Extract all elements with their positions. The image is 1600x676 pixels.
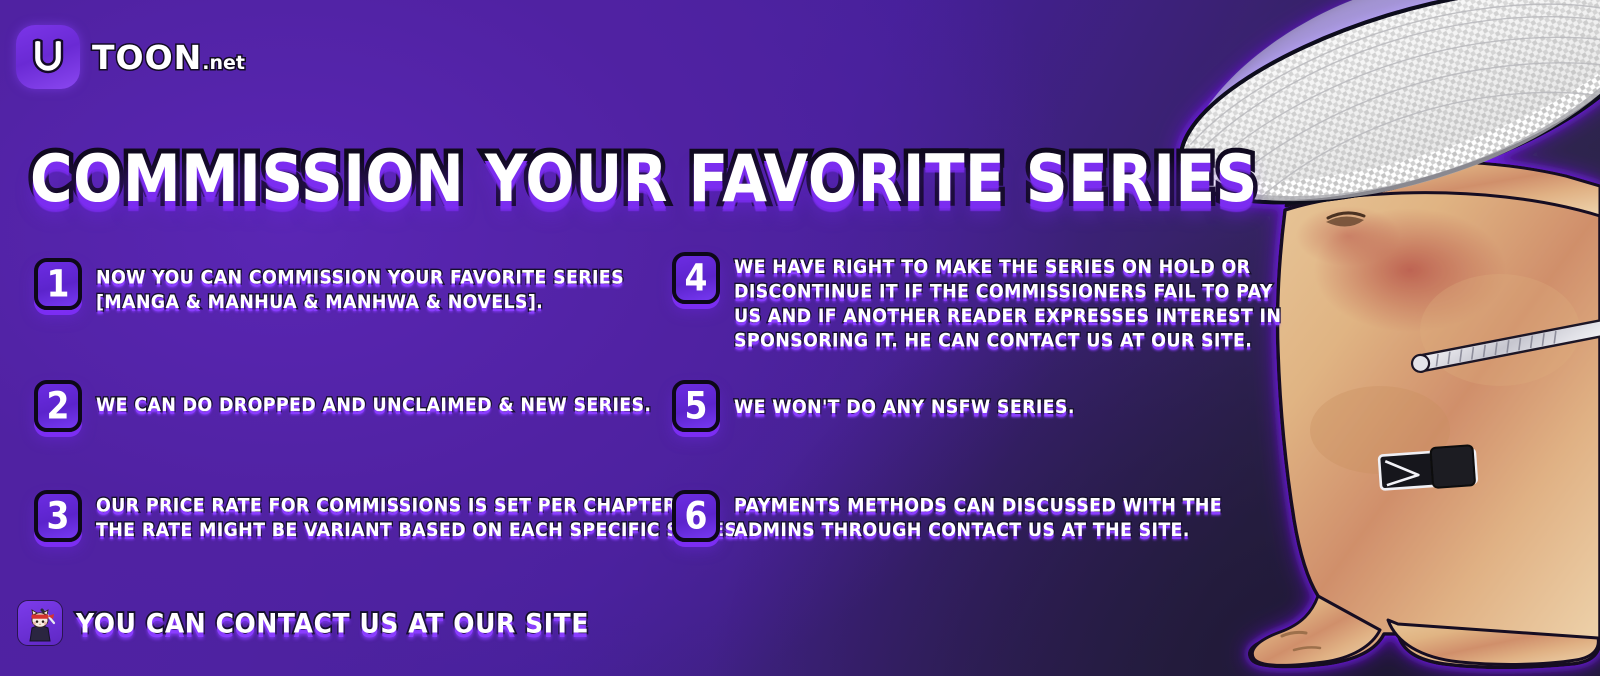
list-item: 4 WE HAVE RIGHT TO MAKE THE SERIES ON HO… bbox=[672, 252, 1281, 348]
number-badge: 1 bbox=[34, 258, 82, 310]
page-title: COMMISSION YOUR FAVORITE SERIES bbox=[30, 146, 1258, 211]
contact-footer-text: YOU CAN CONTACT US AT OUR SITE bbox=[76, 607, 589, 638]
list-item-text: WE CAN DO DROPPED AND UNCLAIMED & NEW SE… bbox=[96, 376, 651, 418]
logo-wordmark: TOON.net bbox=[92, 38, 245, 77]
text-line: OUR PRICE RATE FOR COMMISSIONS IS SET PE… bbox=[96, 494, 744, 518]
crescent-u-logo-icon bbox=[16, 25, 80, 89]
list-item: 5 WE WON'T DO ANY NSFW SERIES. bbox=[672, 376, 1075, 432]
badge-number: 2 bbox=[47, 386, 70, 424]
text-line: ADMINS THROUGH CONTACT US AT THE SITE. bbox=[734, 519, 1222, 543]
commission-banner: TOON.net COMMISSION YOUR FAVORITE SERIES… bbox=[0, 0, 1600, 676]
badge-number: 6 bbox=[685, 496, 708, 534]
badge-number: 1 bbox=[47, 264, 70, 302]
text-line: [MANGA & MANHUA & MANHWA & NOVELS]. bbox=[96, 291, 624, 315]
number-badge: 2 bbox=[34, 380, 82, 432]
text-line: WE WON'T DO ANY NSFW SERIES. bbox=[734, 396, 1075, 420]
number-badge: 4 bbox=[672, 252, 720, 304]
number-badge: 6 bbox=[672, 490, 720, 542]
list-item-text: WE WON'T DO ANY NSFW SERIES. bbox=[734, 376, 1075, 420]
text-line: NOW YOU CAN COMMISSION YOUR FAVORITE SER… bbox=[96, 266, 624, 290]
badge-number: 5 bbox=[685, 386, 708, 424]
list-item: 3 OUR PRICE RATE FOR COMMISSIONS IS SET … bbox=[34, 486, 744, 542]
list-item-text: WE HAVE RIGHT TO MAKE THE SERIES ON HOLD… bbox=[734, 252, 1281, 353]
list-item-text: PAYMENTS METHODS CAN DISCUSSED WITH THE … bbox=[734, 486, 1222, 543]
logo-tld: .net bbox=[202, 52, 245, 74]
list-item: 2 WE CAN DO DROPPED AND UNCLAIMED & NEW … bbox=[34, 376, 651, 432]
text-line: WE CAN DO DROPPED AND UNCLAIMED & NEW SE… bbox=[96, 394, 651, 418]
list-item-text: OUR PRICE RATE FOR COMMISSIONS IS SET PE… bbox=[96, 486, 744, 543]
badge-number: 3 bbox=[47, 496, 70, 534]
number-badge: 3 bbox=[34, 490, 82, 542]
contact-footer[interactable]: YOU CAN CONTACT US AT OUR SITE bbox=[17, 600, 589, 646]
ninja-cat-avatar-icon bbox=[17, 600, 63, 646]
list-item: 6 PAYMENTS METHODS CAN DISCUSSED WITH TH… bbox=[672, 486, 1222, 542]
badge-number: 4 bbox=[685, 258, 708, 296]
number-badge: 5 bbox=[672, 380, 720, 432]
text-line: WE HAVE RIGHT TO MAKE THE SERIES ON HOLD… bbox=[734, 256, 1281, 280]
text-line: SPONSORING IT. HE CAN CONTACT US AT OUR … bbox=[734, 329, 1281, 353]
logo-name: TOON bbox=[92, 38, 202, 77]
text-line: THE RATE MIGHT BE VARIANT BASED ON EACH … bbox=[96, 519, 744, 543]
text-line: PAYMENTS METHODS CAN DISCUSSED WITH THE bbox=[734, 494, 1222, 518]
site-logo[interactable]: TOON.net bbox=[16, 25, 245, 89]
text-line: DISCONTINUE IT IF THE COMMISSIONERS FAIL… bbox=[734, 281, 1281, 305]
list-item: 1 NOW YOU CAN COMMISSION YOUR FAVORITE S… bbox=[34, 258, 624, 312]
text-line: US AND IF ANOTHER READER EXPRESSES INTER… bbox=[734, 305, 1281, 329]
list-item-text: NOW YOU CAN COMMISSION YOUR FAVORITE SER… bbox=[96, 258, 624, 315]
